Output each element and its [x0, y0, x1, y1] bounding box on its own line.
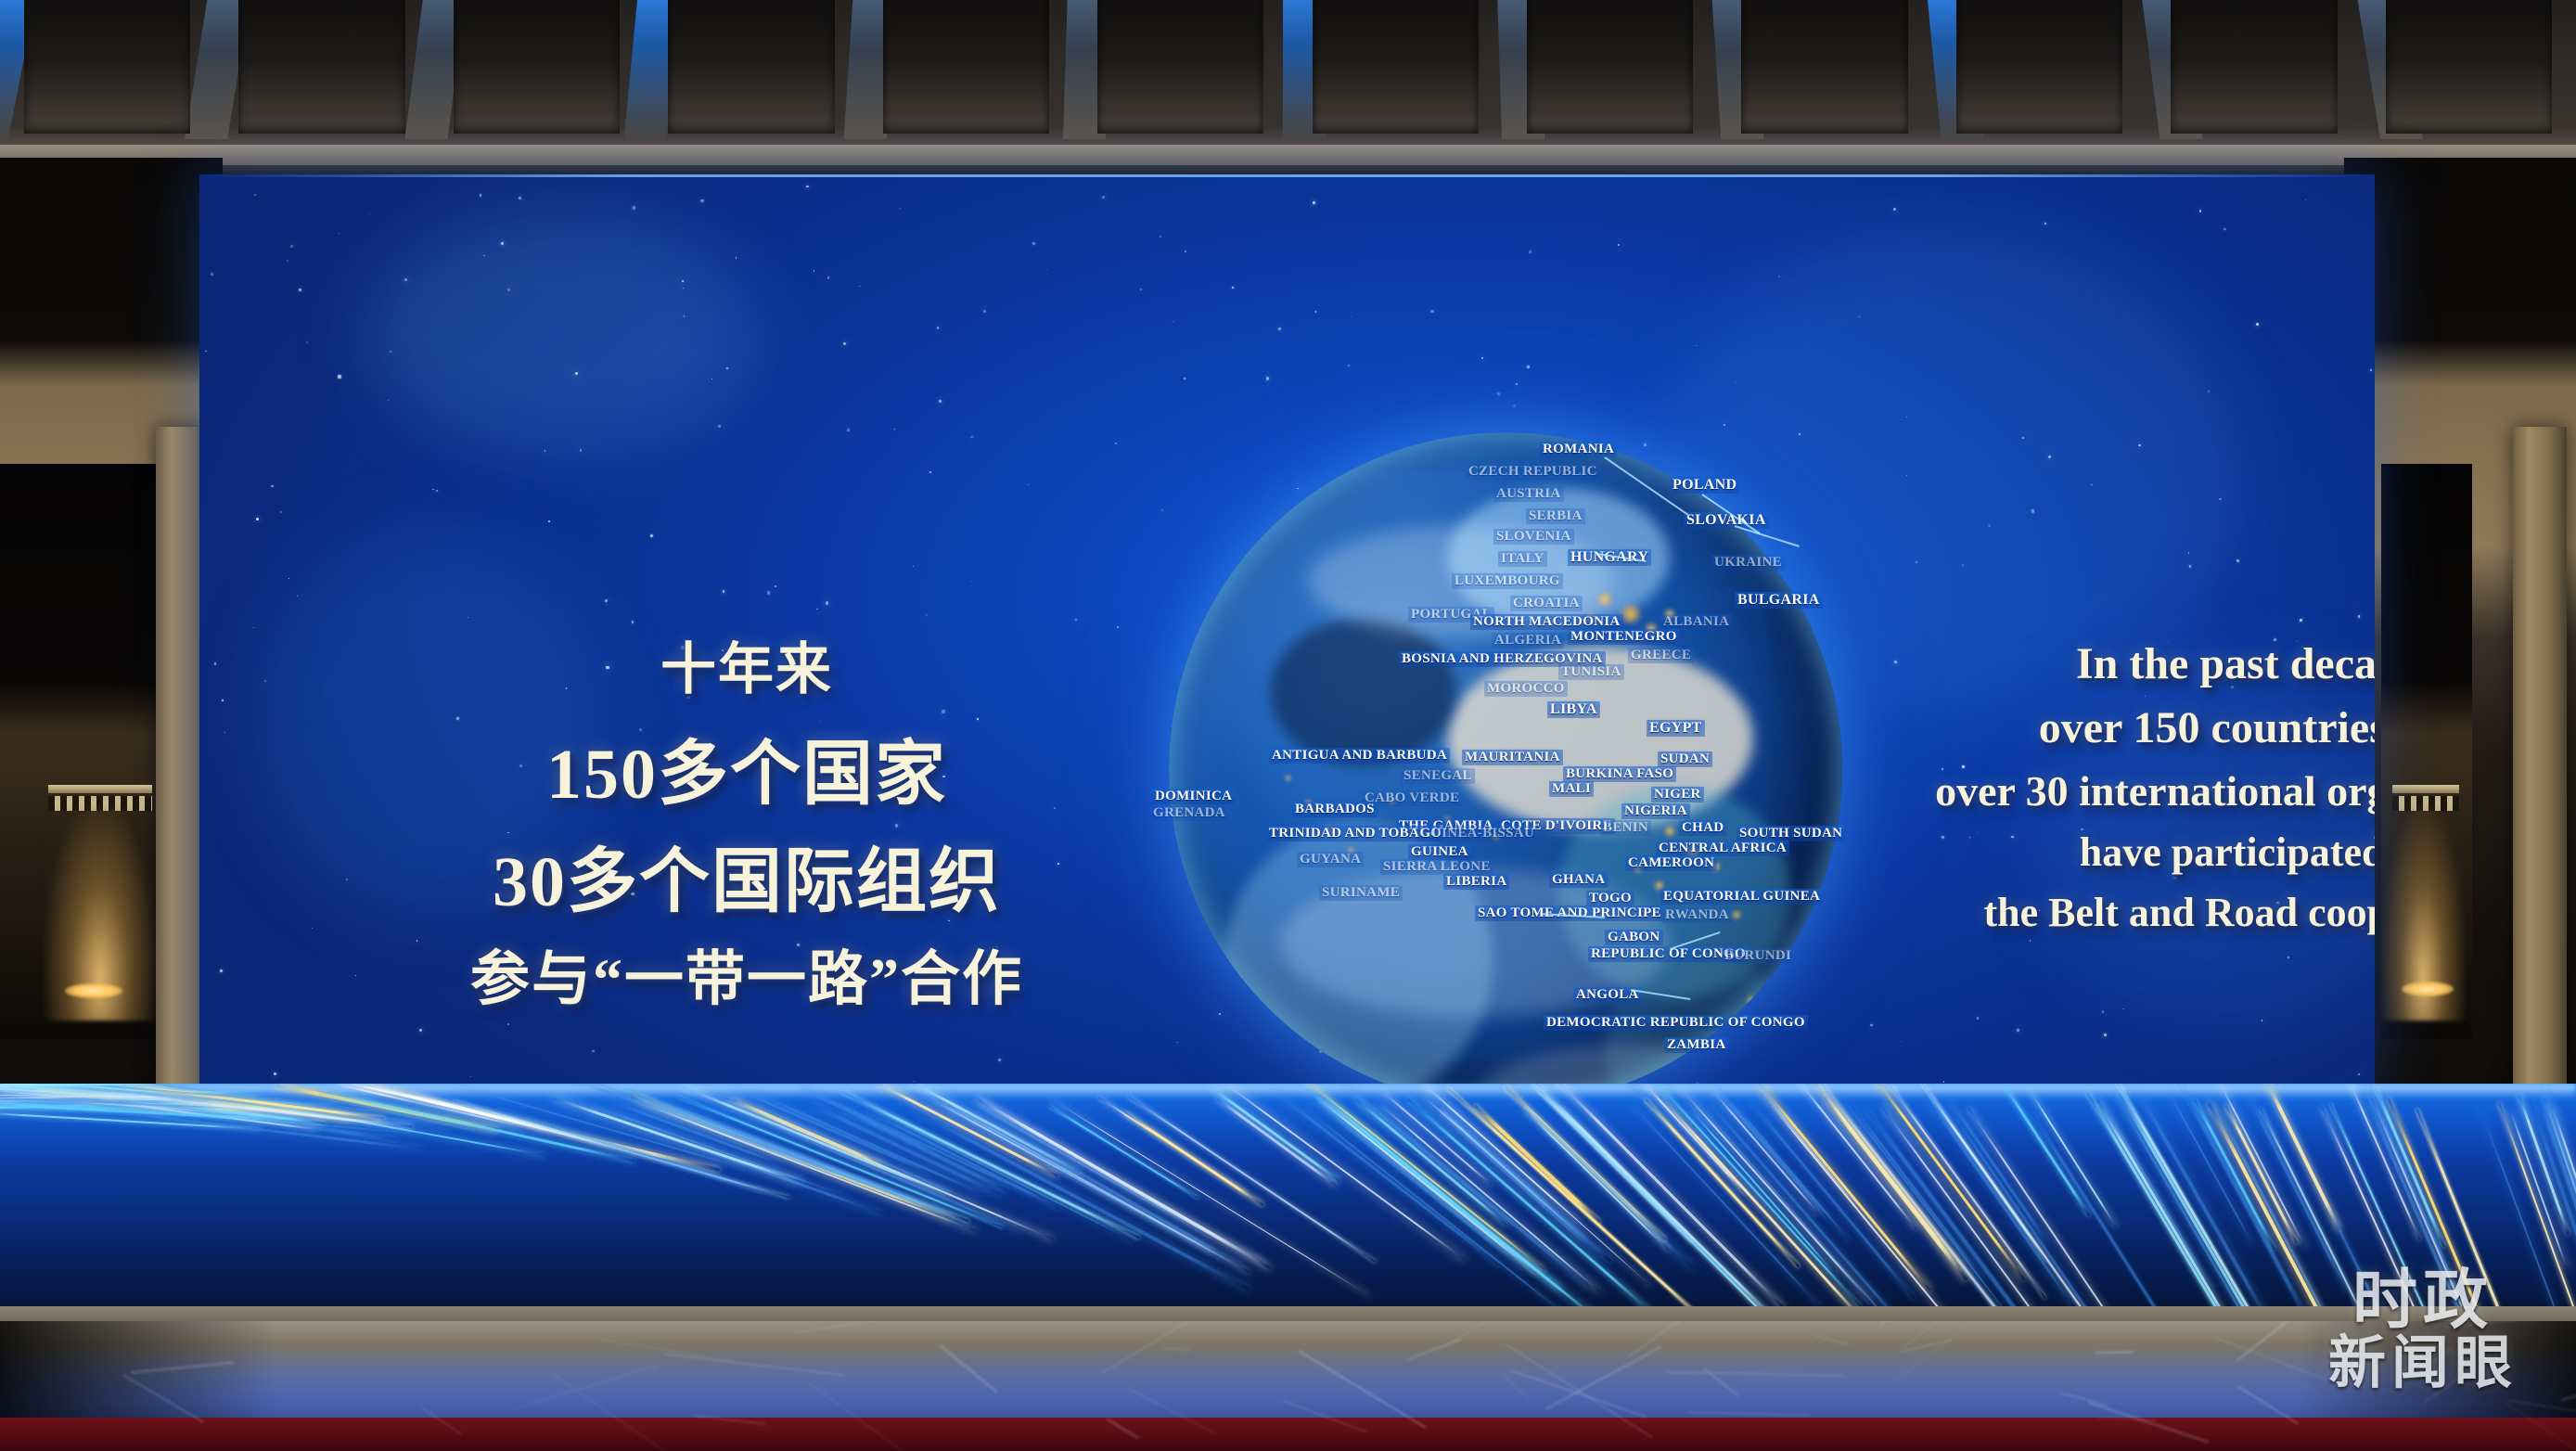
- floor-light-streak: [1216, 1098, 1336, 1186]
- floor-light-streak: [1944, 1104, 2126, 1323]
- marble-vein: [1502, 1374, 1530, 1399]
- ceiling-panel: [238, 0, 404, 134]
- country-label: GABON: [1605, 930, 1663, 945]
- country-label: MALI: [1549, 781, 1594, 797]
- floor-light-streak: [1123, 1111, 1263, 1206]
- country-label: AUSTRIA: [1493, 486, 1564, 502]
- marble-vein: [1888, 1321, 1953, 1322]
- country-label: ALGERIA: [1492, 633, 1564, 648]
- country-label: NORTH MACEDONIA: [1470, 614, 1623, 630]
- marble-vein: [1889, 1321, 1990, 1386]
- country-label: SLOVENIA: [1493, 529, 1574, 545]
- country-label: BURUNDI: [1722, 948, 1794, 964]
- slogan-en-line-3: over 30 international organizations: [1869, 766, 2375, 815]
- country-label: LIBERIA: [1443, 874, 1509, 890]
- marble-vein: [1511, 1369, 1647, 1418]
- marble-vein: [664, 1354, 845, 1376]
- country-label: NIGERIA: [1621, 803, 1690, 819]
- country-label: RWANDA: [1662, 907, 1732, 923]
- floor-light-streak: [321, 1090, 634, 1162]
- floor-light-streak: [496, 1108, 766, 1194]
- ceiling-panel: [2171, 0, 2337, 134]
- stage-floor-light-streaks: [0, 1084, 2576, 1323]
- country-label: CHAD: [1679, 820, 1726, 836]
- slogan-cn-line-4: 参与“一带一路”合作: [422, 931, 1071, 1017]
- left-wall-lamp: [65, 983, 122, 998]
- city-light: [1285, 775, 1291, 781]
- floor-light-streak: [1319, 1098, 1537, 1274]
- country-label: POLAND: [1670, 477, 1739, 494]
- country-label: MOROCCO: [1484, 681, 1568, 697]
- city-light: [1664, 826, 1675, 837]
- ceiling-panel: [883, 0, 1049, 134]
- slogan-en-line-2: over 150 countries and: [1869, 702, 2375, 753]
- country-label: GUYANA: [1297, 852, 1364, 867]
- marble-vein: [1627, 1321, 1700, 1358]
- country-label: ITALY: [1498, 551, 1547, 567]
- foreground-marble-floor: [0, 1321, 2576, 1451]
- ceiling-panel: [1313, 0, 1479, 134]
- floor-light-streak: [2031, 1111, 2182, 1323]
- country-label: CZECH REPUBLIC: [1466, 464, 1600, 480]
- channel-watermark: 时政 新闻眼: [2307, 1252, 2539, 1410]
- slogan-english: In the past decade, over 150 countries a…: [1869, 638, 2375, 936]
- slogan-en-line-1: In the past decade,: [1869, 638, 2375, 689]
- country-label: LIBYA: [1547, 701, 1600, 718]
- scene-root: 十年来 150多个国家 30多个国际组织 参与“一带一路”合作 In the p…: [0, 0, 2576, 1451]
- country-label: CROATIA: [1510, 596, 1583, 611]
- led-screen: 十年来 150多个国家 30多个国际组织 参与“一带一路”合作 In the p…: [199, 174, 2375, 1091]
- floor-light-streak: [1949, 1099, 2050, 1244]
- watermark-line-1: 时政: [2352, 1268, 2493, 1334]
- ceiling-panel: [24, 0, 190, 134]
- country-label: SAO TOME AND PRINCIPE: [1475, 905, 1664, 921]
- ceiling-panel: [1741, 0, 1907, 134]
- country-label: EGYPT: [1647, 720, 1705, 737]
- marble-vein: [513, 1365, 659, 1410]
- marble-vein: [1405, 1338, 1462, 1361]
- country-label: ANTIGUA AND BARBUDA: [1269, 748, 1450, 764]
- country-label: HUNGARY: [1568, 549, 1651, 566]
- ceiling-panel: [1527, 0, 1693, 134]
- floor-light-streak: [2115, 1084, 2277, 1323]
- city-light: [1621, 604, 1641, 624]
- country-label: SENEGAL: [1401, 768, 1475, 784]
- left-frieze-bar: [48, 785, 152, 793]
- country-label: BENIN: [1600, 820, 1651, 836]
- country-label: EQUATORIAL GUINEA: [1660, 889, 1823, 905]
- slogan-cn-line-1: 十年来: [422, 624, 1071, 705]
- country-label: LUXEMBOURG: [1452, 573, 1563, 589]
- ceiling-panel: [1097, 0, 1263, 134]
- country-label: GUINEA: [1408, 844, 1471, 860]
- marble-vein: [1879, 1321, 1951, 1326]
- country-label: TUNISIA: [1558, 664, 1624, 680]
- right-frieze-bar: [2392, 785, 2459, 793]
- ceiling-panel: [1956, 0, 2122, 134]
- country-label: SERBIA: [1526, 508, 1585, 524]
- city-light: [1747, 995, 1757, 1006]
- country-label: TOGO: [1586, 891, 1634, 906]
- country-label: GUINEA-BISSAU: [1417, 826, 1537, 841]
- marble-vein: [1813, 1334, 1849, 1345]
- country-label: SURINAME: [1319, 885, 1403, 901]
- ceiling: [0, 0, 2576, 176]
- nebula-wisp: [366, 212, 756, 453]
- ceiling-panel: [2386, 0, 2552, 134]
- country-label: MAURITANIA: [1462, 750, 1563, 765]
- country-label: SOUTH SUDAN: [1737, 826, 1845, 841]
- slogan-en-line-4: have participated in: [1869, 828, 2375, 876]
- country-label: SLOVAKIA: [1684, 512, 1769, 529]
- floor-light-streak: [2096, 1099, 2244, 1323]
- country-label: SIERRA LEONE: [1380, 859, 1493, 875]
- slogan-chinese: 十年来 150多个国家 30多个国际组织 参与“一带一路”合作: [422, 624, 1071, 1017]
- marble-vein: [2095, 1351, 2134, 1354]
- marble-vein: [599, 1339, 729, 1361]
- marble-vein: [2060, 1392, 2108, 1406]
- marble-vein: [1686, 1411, 1810, 1416]
- slogan-en-line-5: the Belt and Road cooperation.: [1869, 889, 2375, 936]
- marble-vein: [795, 1321, 952, 1333]
- globe-graphic: ROMANIACZECH REPUBLICAUSTRIAPOLANDSERBIA…: [1169, 432, 1842, 1091]
- marble-vein: [940, 1344, 998, 1393]
- country-label: BURKINA FASO: [1563, 766, 1676, 782]
- floor-light-streak: [1537, 1088, 1772, 1320]
- ceiling-panel: [454, 0, 620, 134]
- country-label: DOMINICA: [1152, 789, 1235, 804]
- country-label: CENTRAL AFRICA: [1656, 841, 1789, 856]
- country-label: ALBANIA: [1660, 614, 1732, 630]
- marble-vein: [1162, 1347, 1191, 1351]
- country-label: GRENADA: [1150, 805, 1228, 821]
- country-label: UKRAINE: [1711, 555, 1785, 571]
- ceiling-panel: [668, 0, 834, 134]
- country-label: BULGARIA: [1735, 592, 1823, 609]
- country-label: DEMOCRATIC REPUBLIC OF CONGO: [1544, 1015, 1808, 1031]
- city-light: [1732, 910, 1741, 919]
- floor-light-streak: [1525, 1110, 1670, 1251]
- city-light: [1597, 592, 1612, 607]
- country-label: GREECE: [1628, 648, 1694, 663]
- country-label: CAMEROON: [1625, 855, 1717, 871]
- country-label: BARBADOS: [1292, 802, 1378, 817]
- country-label: ROMANIA: [1540, 442, 1617, 457]
- country-label: GHANA: [1549, 872, 1608, 888]
- right-wall-lamp: [2402, 982, 2454, 996]
- marble-vein: [1545, 1345, 1661, 1409]
- country-label: SUDAN: [1658, 751, 1712, 767]
- floor-light-streak: [2177, 1084, 2313, 1323]
- watermark-line-2: 新闻眼: [2328, 1334, 2518, 1394]
- country-label: ZAMBIA: [1664, 1037, 1728, 1053]
- marble-vein: [1299, 1350, 1427, 1428]
- right-pillar: [2513, 427, 2567, 1132]
- slogan-cn-line-2: 150多个国家: [422, 716, 1071, 818]
- marble-vein: [1441, 1321, 1581, 1350]
- marble-vein: [1665, 1371, 1844, 1377]
- country-label: MONTENEGRO: [1568, 629, 1680, 645]
- country-label: NIGER: [1651, 787, 1704, 803]
- floor-light-streak: [1502, 1085, 1694, 1268]
- floor-light-streak: [1922, 1093, 2077, 1311]
- slogan-cn-line-3: 30多个国际组织: [422, 824, 1071, 926]
